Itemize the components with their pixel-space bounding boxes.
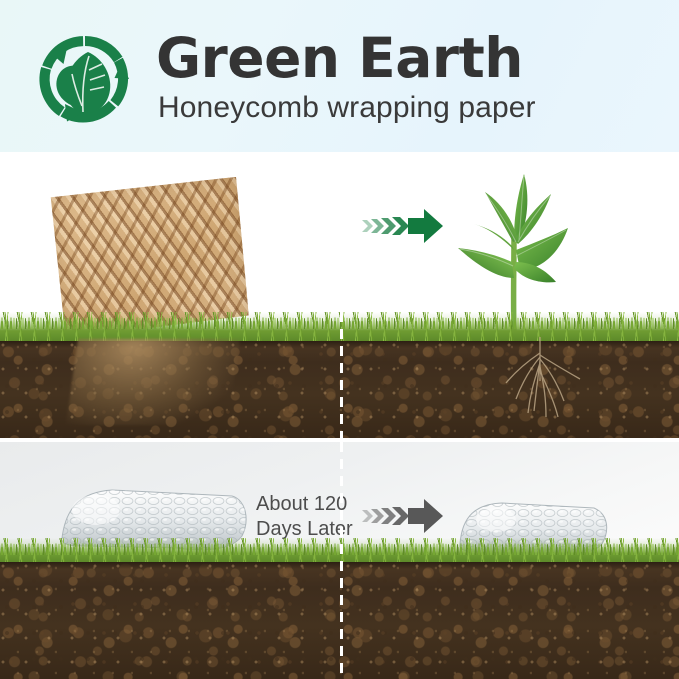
chevrons-right-icon [362, 507, 409, 525]
plant-roots [488, 337, 608, 429]
header-banner: Green Earth Honeycomb wrapping paper [0, 0, 679, 152]
honeycomb-panel: About 120 Days Later [0, 152, 679, 438]
bubblewrap-panel: About 120 Days Later [0, 442, 679, 679]
brand-text: Green Earth Honeycomb wrapping paper [150, 20, 660, 140]
recycling-leaves-icon [26, 26, 144, 134]
chevrons-right-icon [362, 217, 409, 235]
page-subtitle: Honeycomb wrapping paper [158, 90, 536, 126]
right-arrow-icon [362, 206, 444, 246]
caption-line-1: About 120 [256, 492, 353, 517]
page-title: Green Earth [156, 27, 523, 89]
panel-divider-bottom [340, 442, 343, 679]
panel-divider-top [340, 312, 343, 438]
brand-row: Green Earth Honeycomb wrapping paper [26, 20, 656, 140]
caption-prefix: About [256, 493, 314, 515]
product-infographic: Green Earth Honeycomb wrapping paper [0, 0, 679, 679]
decomposing-paper-remains [66, 339, 240, 425]
arrow-top [362, 206, 444, 246]
